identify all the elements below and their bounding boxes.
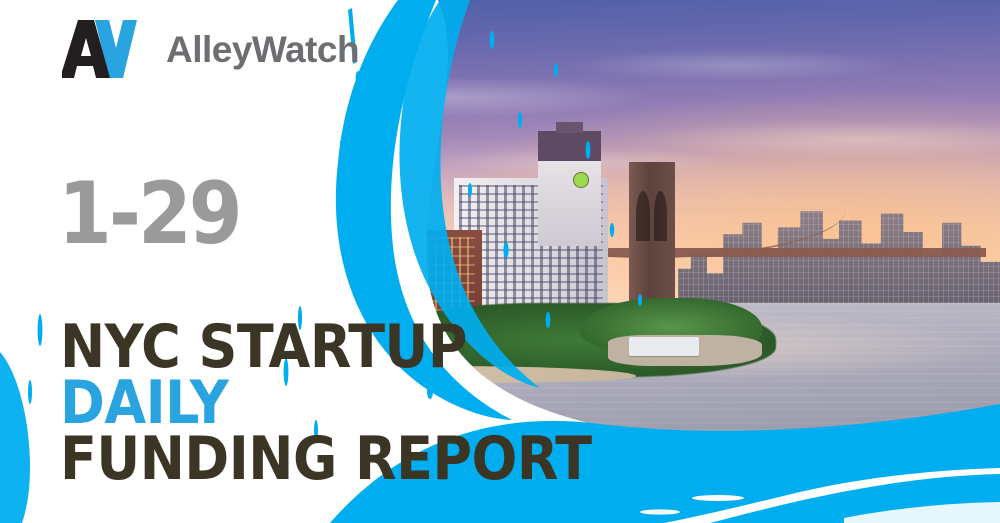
clock-face-icon bbox=[573, 172, 589, 188]
page-title: NYC STARTUP DAILY FUNDING REPORT bbox=[60, 320, 592, 487]
headline-line-3: FUNDING REPORT bbox=[60, 432, 592, 488]
alleywatch-wordmark: AlleyWatch bbox=[166, 31, 359, 68]
alleywatch-logo[interactable]: AlleyWatch bbox=[62, 18, 359, 80]
brooklyn-bridge-tower bbox=[629, 162, 675, 308]
brush-white-streaks bbox=[640, 468, 1000, 523]
pier-pavilion bbox=[629, 337, 699, 356]
alleywatch-aw-monogram-icon bbox=[62, 18, 154, 80]
dumbo-clock-tower bbox=[538, 131, 601, 246]
clock-tower-roof bbox=[556, 122, 584, 134]
report-date: 1-29 bbox=[58, 171, 240, 257]
alleywatch-funding-report-banner: AlleyWatch 1-29 NYC STARTUP DAILY FUNDIN… bbox=[0, 0, 1000, 523]
blue-brush-fragment-left bbox=[0, 314, 42, 523]
